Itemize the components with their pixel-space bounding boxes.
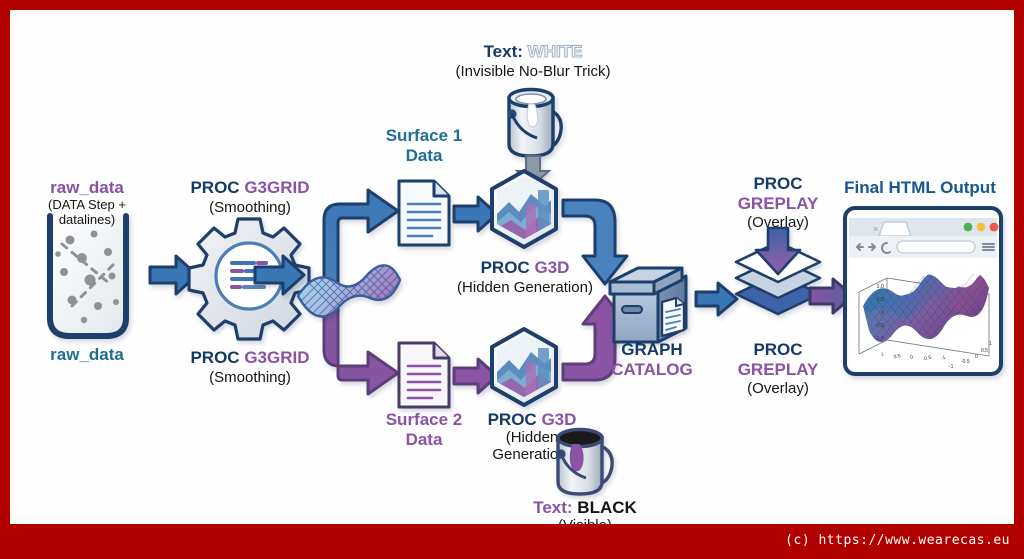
surface1-label-line1: Surface 1 [366, 126, 482, 145]
greplay-top-subtitle: (Overlay) [720, 215, 836, 232]
graph-catalog-group [606, 258, 696, 350]
dot-yellow-icon [977, 223, 986, 232]
svg-text:0.5: 0.5 [877, 297, 885, 303]
svg-text:0: 0 [881, 310, 884, 316]
address-bar [897, 241, 975, 253]
svg-text:-1: -1 [949, 364, 954, 370]
footer-bar: (c) https://www.wearecas.eu [0, 524, 1024, 559]
svg-text:1: 1 [989, 341, 992, 347]
final-output-title: Final HTML Output [830, 178, 1010, 197]
greplay-bottom-proc: PROC [720, 340, 836, 359]
paint-white-label: Text: WHITE [440, 42, 626, 61]
greplay-top-proc: PROC [720, 174, 836, 193]
raw-data-subtitle-1: (DATA Step + [22, 198, 152, 213]
paint-black-label: Text: BLACK [500, 498, 670, 517]
paint-black-prefix: Text: [533, 498, 572, 517]
g3grid-top-title: PROC G3GRID [185, 178, 315, 197]
svg-text:0.5: 0.5 [981, 348, 988, 354]
diagram-canvas: raw_data (DATA Step + datalines) raw_dat… [10, 10, 1014, 524]
greplay-bottom-name: GREPLAY [710, 360, 846, 379]
paint-black-value: BLACK [577, 498, 637, 517]
surface2-doc-group [396, 340, 452, 410]
svg-text:0: 0 [975, 354, 978, 360]
paint-white-subtitle: (Invisible No-Blur Trick) [440, 64, 626, 81]
svg-text:0: 0 [910, 355, 914, 361]
svg-text:-0.5: -0.5 [961, 359, 970, 365]
g3grid-top-subtitle: (Smoothing) [185, 200, 315, 217]
dot-green-icon [964, 223, 973, 232]
svg-text:-1: -1 [940, 355, 946, 362]
document-icon [396, 340, 452, 410]
g3d-top-group [483, 168, 565, 258]
raw-data-caption: raw_data [22, 345, 152, 364]
g3grid-bottom-title: PROC G3GRID [185, 348, 315, 367]
svg-text:-1.0: -1.0 [875, 336, 884, 342]
surface-plot-svg: 1.0 0.5 0 -0.5 -1.0 1 0.5 0 -0.5 -1 -1 [851, 262, 997, 370]
svg-text:1: 1 [880, 352, 884, 358]
hexagon-chart-icon [483, 168, 565, 258]
wireframe-surface-icon [294, 258, 404, 324]
dot-red-icon [990, 223, 999, 232]
paint-white-value: WHITE [528, 42, 583, 61]
greplay-top-name: GREPLAY [710, 194, 846, 213]
surface-plot: 1.0 0.5 0 -0.5 -1.0 1 0.5 0 -0.5 -1 -1 [851, 262, 997, 370]
svg-text:-0.5: -0.5 [922, 355, 932, 363]
svg-text:0.5: 0.5 [893, 353, 901, 360]
g3grid-top-name: G3GRID [244, 178, 309, 197]
paint-black-group [546, 424, 618, 506]
hamburger-menu-icon [983, 244, 994, 250]
close-icon: × [873, 224, 878, 234]
svg-text:-0.5: -0.5 [875, 323, 884, 329]
g3d-bottom-proc: PROC [488, 410, 537, 429]
svg-text:1.0: 1.0 [877, 284, 885, 290]
surface2-label-line1: Surface 2 [366, 410, 482, 429]
g3grid-bottom-proc: PROC [190, 348, 239, 367]
graph-catalog-line2: CATALOG [590, 360, 714, 379]
g3grid-bottom-name: G3GRID [244, 348, 309, 367]
document-icon [396, 178, 452, 248]
surface1-label-line2: Data [366, 146, 482, 165]
raw-data-title: raw_data [32, 178, 142, 197]
graph-catalog-line1: GRAPH [600, 340, 704, 359]
g3grid-top-proc: PROC [190, 178, 239, 197]
g3d-bottom-group [483, 326, 565, 416]
paint-white-prefix: Text: [484, 42, 523, 61]
credit-text: (c) https://www.wearecas.eu [785, 533, 1010, 548]
paint-can-black-icon [546, 424, 618, 506]
g3grid-bottom-subtitle: (Smoothing) [185, 370, 315, 387]
raw-data-icon-group [32, 210, 142, 345]
g3d-top-proc: PROC [481, 258, 530, 277]
raw-data-subtitle-2: datalines) [22, 213, 152, 228]
archive-box-document-icon [606, 258, 696, 350]
hexagon-chart-icon [483, 326, 565, 416]
mesh-surface-group [294, 258, 404, 324]
poster-frame: raw_data (DATA Step + datalines) raw_dat… [0, 0, 1024, 559]
greplay-bottom-subtitle: (Overlay) [720, 381, 836, 398]
surface1-doc-group [396, 178, 452, 248]
beaker-scatter-icon [32, 210, 142, 345]
